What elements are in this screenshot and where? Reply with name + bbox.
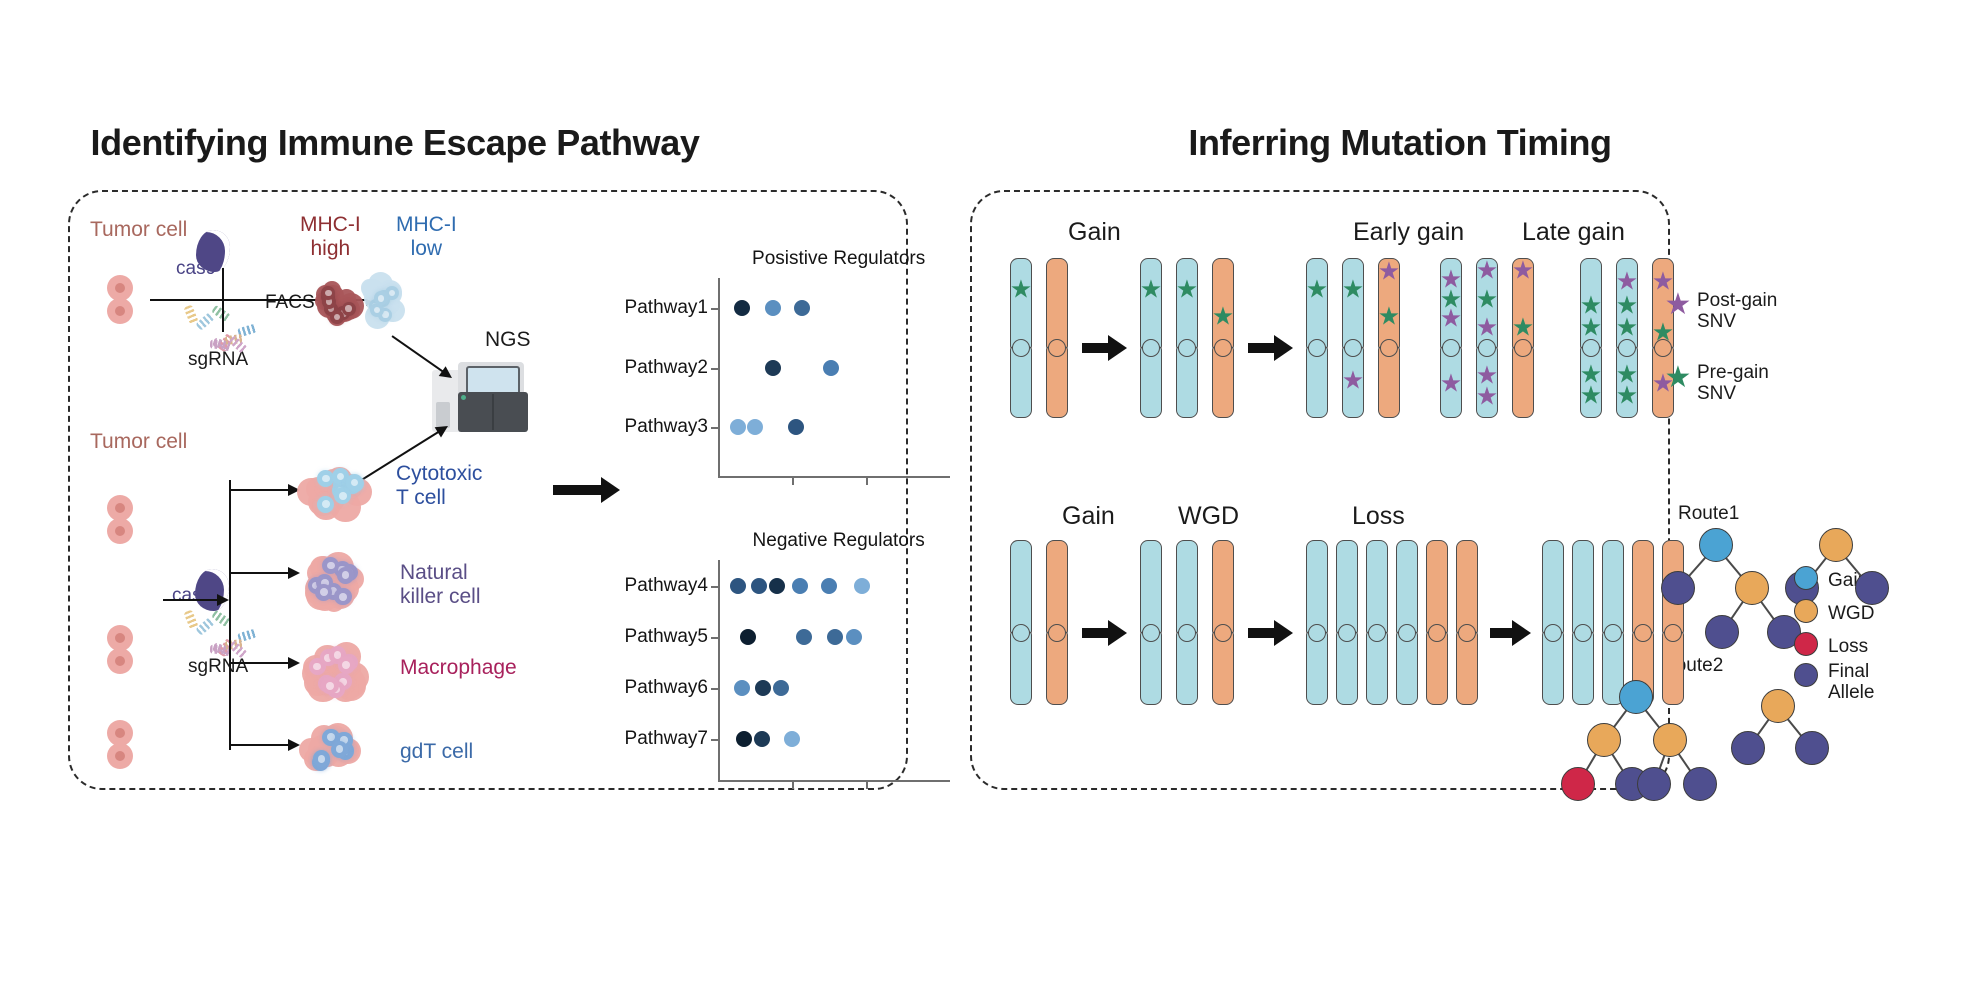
x-axis-negative-regulators [718,780,950,782]
post-gain-snv-star: ★ [1476,385,1498,410]
legend-loss-swatch [1794,632,1818,656]
route2-tree-a-node-2 [1653,723,1687,757]
plot-dot [796,629,812,645]
arrow-gain-2-shaft [1248,343,1274,353]
legend-pre-gain-star: ★ [1665,363,1692,393]
chrom-g1-orange [1046,258,1068,418]
plot-title-negative-regulators: Negative Regulators [753,530,925,552]
natural-killer-cell-icon [299,551,371,615]
pre-gain-snv-star: ★ [1580,383,1602,408]
pre-gain-snv-star: ★ [1378,305,1400,330]
chrom-early-blue2: ★★★★★ [1476,258,1498,418]
route1-tree-a-node-1 [1661,571,1695,605]
plot-row-label: Pathway6 [600,677,708,699]
arrow-wgd-2-head [1274,620,1293,646]
plot-title-positive-regulators: Posistive Regulators [752,248,925,270]
pre-gain-snv-star: ★ [1580,316,1602,341]
plot-dot [734,300,750,316]
route2-tree-b-node-1 [1731,731,1765,765]
chrom-b2-blue1 [1140,540,1162,705]
results-big-arrow-shaft [553,485,601,495]
chrom-b3-blue2 [1336,540,1358,705]
tumor-cell-icon-b3 [105,719,135,771]
x-tick [866,782,868,789]
arrow-gain-2-head [1274,335,1293,361]
route1-tree-a-node-2 [1735,571,1769,605]
plot-dot [765,360,781,376]
route2-tree-a-node-1 [1587,723,1621,757]
plot-row-label: Pathway2 [600,357,708,379]
plot-dot [734,680,750,696]
gdt-cell-icon [299,722,371,782]
post-gain-snv-star: ★ [1476,258,1498,283]
y-tick [711,427,718,429]
plot-dot [740,629,756,645]
chrom-b3-blue1 [1306,540,1328,705]
x-axis-positive-regulators [718,476,950,478]
plot-dot [788,419,804,435]
chrom-b3-orange2 [1456,540,1478,705]
chrom-early-orange: ★★ [1512,258,1534,418]
pre-gain-snv-star: ★ [1140,278,1162,303]
plot-dot [792,578,808,594]
post-gain-snv-star: ★ [1512,258,1534,283]
y-tick [711,688,718,690]
route1-tree-b-node-0 [1819,528,1853,562]
x-tick [866,478,868,485]
pre-gain-snv-star: ★ [1212,305,1234,330]
route2-tree-a-node-3 [1561,767,1595,801]
pre-gain-snv-star: ★ [1306,278,1328,303]
tumor-cell-icon-top [105,274,135,326]
chrom-b4-blue2 [1572,540,1594,705]
post-gain-snv-star: ★ [1440,372,1462,397]
chrom-g3-blue2: ★★ [1342,258,1364,418]
route2-tree-a-node-6 [1683,767,1717,801]
plot-dot [827,629,843,645]
arrow-mhc-to-ngs-shaft [391,335,445,374]
legend-final-allele-swatch [1794,663,1818,687]
legend-wgd-swatch [1794,599,1818,623]
arrow-gain-1-head [1108,335,1127,361]
route2-tree-b-node-0 [1761,689,1795,723]
x-tick [792,478,794,485]
chrom-b2-blue2 [1176,540,1198,705]
chrom-b4-blue3 [1602,540,1624,705]
plot-dot [784,731,800,747]
post-gain-snv-star: ★ [1440,306,1462,331]
plot-row-label: Pathway1 [600,297,708,319]
y-axis-negative-regulators [718,560,720,782]
sgrna-icon-bottom [181,609,269,661]
pre-gain-snv-star: ★ [1652,321,1674,346]
chrom-g2-blue1: ★ [1140,258,1162,418]
chrom-g2-orange: ★ [1212,258,1234,418]
route1-tree-a-node-3 [1705,615,1739,649]
pre-gain-snv-star: ★ [1010,278,1032,303]
chrom-b3-blue3 [1366,540,1388,705]
y-tick [711,586,718,588]
branch-in-arrow-head [217,594,229,606]
pre-gain-snv-star: ★ [1512,316,1534,341]
plot-dot [751,578,767,594]
plot-positive-regulators: Posistive RegulatorsPathway1Pathway2Path… [718,278,950,478]
pre-gain-snv-star: ★ [1616,383,1638,408]
y-tick [711,637,718,639]
chrom-g3-blue1: ★ [1306,258,1328,418]
pre-gain-snv-star: ★ [1342,278,1364,303]
plot-row-label: Pathway5 [600,626,708,648]
pre-gain-snv-star: ★ [1616,316,1638,341]
y-axis-positive-regulators [718,278,720,478]
chrom-b3-blue4 [1396,540,1418,705]
branch-in-arrow-shaft [163,599,220,601]
route2-tree-a-node-0 [1619,680,1653,714]
chrom-g1-blue: ★ [1010,258,1032,418]
route1-tree-a-node-0 [1699,528,1733,562]
cytotoxic-t-cell-icon [299,458,371,522]
legend-post-gain-star: ★ [1665,290,1692,320]
plot-row-label: Pathway7 [600,728,708,750]
plot-dot [821,578,837,594]
plot-dot [823,360,839,376]
branch-arrow-4-shaft [229,744,291,746]
chrom-b1-blue [1010,540,1032,705]
plot-dot [736,731,752,747]
arrow-gain-1-shaft [1082,343,1108,353]
arrow-wgd-3-shaft [1490,628,1512,638]
chrom-b1-orange [1046,540,1068,705]
x-tick [792,782,794,789]
plot-negative-regulators: Negative RegulatorsPathway4Pathway5Pathw… [718,560,950,782]
route2-tree-a-node-5 [1637,767,1671,801]
plot-dot [754,731,770,747]
plot-dot [730,419,746,435]
route1-tree-b-node-2 [1855,571,1889,605]
plot-dot [773,680,789,696]
facs-branch-mark [222,268,238,332]
branch-arrow-3-shaft [229,662,291,664]
mhc-cluster-low [356,270,408,330]
y-tick [711,739,718,741]
arrow-wgd-2-shaft [1248,628,1274,638]
plot-row-label: Pathway3 [600,416,708,438]
plot-dot [846,629,862,645]
y-tick [711,308,718,310]
mhc-cluster-high [310,270,362,330]
plot-dot [765,300,781,316]
chrom-b4-orange2 [1662,540,1684,705]
pre-gain-snv-star: ★ [1476,287,1498,312]
arrow-wgd-1-shaft [1082,628,1108,638]
plot-row-label: Pathway4 [600,575,708,597]
cas9-icon-top [196,230,230,272]
chrom-late-blue1: ★★★★ [1580,258,1602,418]
arrow-wgd-1-head [1108,620,1127,646]
macrophage-icon [299,640,371,704]
branch-arrow-2-shaft [229,572,291,574]
y-tick [711,368,718,370]
arrow-wgd-3-head [1512,620,1531,646]
pre-gain-snv-star: ★ [1176,278,1198,303]
chrom-early-blue1: ★★★★ [1440,258,1462,418]
chrom-late-blue2: ★★★★★ [1616,258,1638,418]
plot-dot [730,578,746,594]
tumor-cell-icon-b1 [105,494,135,546]
post-gain-snv-star: ★ [1342,369,1364,394]
plot-dot [769,578,785,594]
chrom-g2-blue2: ★ [1176,258,1198,418]
tumor-cell-icon-b2 [105,624,135,676]
post-gain-snv-star: ★ [1378,260,1400,285]
results-big-arrow-head [601,477,620,503]
plot-dot [854,578,870,594]
legend-gain-swatch [1794,566,1818,590]
plot-dot [755,680,771,696]
route2-tree-b-node-2 [1795,731,1829,765]
chrom-b3-orange1 [1426,540,1448,705]
plot-dot [794,300,810,316]
branch-trunk [229,480,231,750]
chrom-g3-orange: ★★ [1378,258,1400,418]
branch-arrow-1-shaft [229,489,291,491]
plot-dot [747,419,763,435]
chrom-late-orange: ★★★ [1652,258,1674,418]
chrom-b2-orange [1212,540,1234,705]
post-gain-snv-star: ★ [1476,316,1498,341]
chrom-b4-blue1 [1542,540,1564,705]
